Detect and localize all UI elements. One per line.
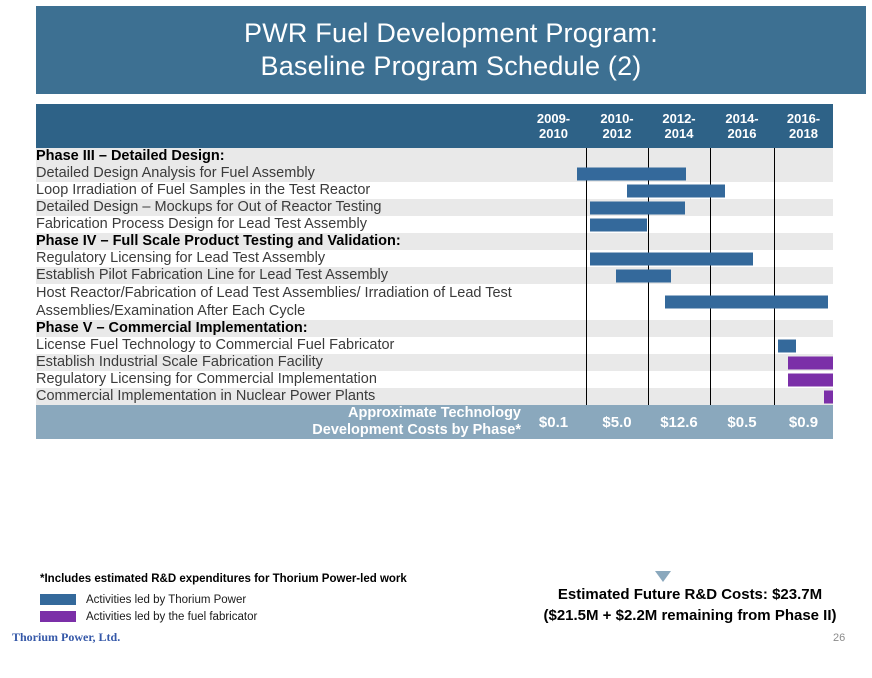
gridline	[648, 337, 649, 354]
cost-summary-label-line1: Approximate Technology	[36, 405, 521, 422]
task-label: Detailed Design Analysis for Fuel Assemb…	[36, 165, 521, 182]
legend-swatch-blue-icon	[40, 594, 76, 605]
gantt-track	[521, 337, 833, 354]
cost-value-3: $0.5	[710, 405, 774, 439]
table-row: Commercial Implementation in Nuclear Pow…	[36, 388, 833, 405]
task-label: Fabrication Process Design for Lead Test…	[36, 216, 521, 233]
table-row: Phase IV – Full Scale Product Testing an…	[36, 233, 833, 250]
gridline	[710, 320, 711, 337]
gridline	[648, 216, 649, 233]
table-row: Regulatory Licensing for Commercial Impl…	[36, 371, 833, 388]
column-header-4-line2: 2018	[774, 126, 833, 141]
task-label: Regulatory Licensing for Lead Test Assem…	[36, 250, 521, 267]
table-row: Phase III – Detailed Design:	[36, 148, 833, 165]
gantt-track	[521, 320, 833, 337]
cost-value-0: $0.1	[521, 405, 586, 439]
gantt-bar	[590, 252, 754, 265]
task-label: Loop Irradiation of Fuel Samples in the …	[36, 182, 521, 199]
gantt-bar	[788, 373, 833, 386]
gridline	[710, 354, 711, 371]
gridline	[586, 233, 587, 250]
legend-swatch-purple-icon	[40, 611, 76, 622]
gridline	[586, 371, 587, 388]
gantt-bar	[665, 296, 829, 309]
phase-heading: Phase IV – Full Scale Product Testing an…	[36, 233, 521, 250]
gantt-track	[521, 182, 833, 199]
column-header-2-line1: 2012-	[648, 111, 710, 126]
table-row: Establish Industrial Scale Fabrication F…	[36, 354, 833, 371]
task-label: Commercial Implementation in Nuclear Pow…	[36, 388, 521, 405]
task-label: Regulatory Licensing for Commercial Impl…	[36, 371, 521, 388]
cost-value-4: $0.9	[774, 405, 833, 439]
legend-label-0: Activities led by Thorium Power	[86, 594, 246, 606]
gridline	[710, 388, 711, 405]
gridline	[586, 250, 587, 267]
column-header-4: 2016- 2018	[774, 104, 833, 148]
legend-item-thorium-power: Activities led by Thorium Power	[40, 592, 340, 607]
task-label: License Fuel Technology to Commercial Fu…	[36, 337, 521, 354]
callout-pointer-icon	[655, 571, 671, 582]
task-label: Establish Industrial Scale Fabrication F…	[36, 354, 521, 371]
gridline	[774, 199, 775, 216]
table-header-row: 2009- 2010 2010- 2012 2012- 2014 2014- 2…	[36, 104, 833, 148]
slide-title-line-1: PWR Fuel Development Program:	[244, 17, 658, 50]
gantt-track	[521, 354, 833, 371]
slide-title-banner: PWR Fuel Development Program: Baseline P…	[36, 6, 866, 94]
program-schedule-table: 2009- 2010 2010- 2012 2012- 2014 2014- 2…	[36, 104, 833, 439]
cost-summary-row: Approximate Technology Development Costs…	[36, 405, 833, 439]
gantt-bar	[577, 167, 686, 180]
gridline	[710, 337, 711, 354]
task-label: Host Reactor/Fabrication of Lead Test As…	[36, 284, 521, 320]
table-row: Loop Irradiation of Fuel Samples in the …	[36, 182, 833, 199]
gridline	[774, 182, 775, 199]
gridline	[710, 267, 711, 284]
gantt-track	[521, 165, 833, 182]
column-header-1: 2010- 2012	[586, 104, 648, 148]
gantt-track	[521, 216, 833, 233]
cost-summary-label: Approximate Technology Development Costs…	[36, 405, 521, 439]
gridline	[774, 267, 775, 284]
legend-item-fuel-fabricator: Activities led by the fuel fabricator	[40, 609, 340, 624]
column-header-0: 2009- 2010	[521, 104, 586, 148]
column-header-3: 2014- 2016	[710, 104, 774, 148]
gantt-track	[521, 388, 833, 405]
cost-value-2: $12.6	[648, 405, 710, 439]
gridline	[586, 148, 587, 165]
gantt-track	[521, 284, 833, 320]
gridline	[774, 388, 775, 405]
gridline	[648, 233, 649, 250]
gridline	[710, 199, 711, 216]
table-row: Establish Pilot Fabrication Line for Lea…	[36, 267, 833, 284]
task-label: Establish Pilot Fabrication Line for Lea…	[36, 267, 521, 284]
gantt-bar	[788, 356, 833, 369]
slide-title-line-2: Baseline Program Schedule (2)	[261, 50, 642, 83]
gantt-track	[521, 371, 833, 388]
task-label: Detailed Design – Mockups for Out of Rea…	[36, 199, 521, 216]
table-header-corner	[36, 104, 521, 148]
page-number: 26	[833, 632, 845, 644]
chart-legend: Activities led by Thorium Power Activiti…	[40, 592, 340, 626]
column-header-3-line2: 2016	[710, 126, 774, 141]
callout-line-2: ($21.5M + $2.2M remaining from Phase II)	[512, 605, 868, 626]
gridline	[586, 199, 587, 216]
gantt-track	[521, 199, 833, 216]
gridline	[774, 354, 775, 371]
cost-summary-label-line2: Development Costs by Phase*	[36, 422, 521, 439]
table-row: Detailed Design – Mockups for Out of Rea…	[36, 199, 833, 216]
table-row: Fabrication Process Design for Lead Test…	[36, 216, 833, 233]
gridline	[586, 182, 587, 199]
gridline	[710, 148, 711, 165]
column-header-2: 2012- 2014	[648, 104, 710, 148]
gridline	[586, 216, 587, 233]
gridline	[710, 233, 711, 250]
gridline	[586, 320, 587, 337]
gridline	[586, 388, 587, 405]
gridline	[648, 320, 649, 337]
gridline	[774, 148, 775, 165]
gantt-track	[521, 233, 833, 250]
gantt-track	[521, 250, 833, 267]
column-header-1-line1: 2010-	[586, 111, 648, 126]
column-header-3-line1: 2014-	[710, 111, 774, 126]
phase-heading: Phase III – Detailed Design:	[36, 148, 521, 165]
gantt-bar	[778, 339, 795, 352]
gridline	[774, 250, 775, 267]
estimated-costs-callout: Estimated Future R&D Costs: $23.7M ($21.…	[512, 584, 868, 626]
gridline	[710, 165, 711, 182]
gridline	[648, 148, 649, 165]
gantt-track	[521, 148, 833, 165]
gridline	[710, 371, 711, 388]
gridline	[586, 337, 587, 354]
column-header-0-line1: 2009-	[521, 111, 586, 126]
gridline	[586, 284, 587, 320]
table-body: Phase III – Detailed Design:Detailed Des…	[36, 148, 833, 405]
gantt-bar	[590, 201, 685, 214]
legend-label-1: Activities led by the fuel fabricator	[86, 611, 257, 623]
gridline	[774, 165, 775, 182]
gridline	[648, 354, 649, 371]
gridline	[586, 267, 587, 284]
callout-line-1: Estimated Future R&D Costs: $23.7M	[512, 584, 868, 605]
phase-heading: Phase V – Commercial Implementation:	[36, 320, 521, 337]
column-header-0-line2: 2010	[521, 126, 586, 141]
footnote-text: *Includes estimated R&D expenditures for…	[40, 573, 407, 585]
table-row: Phase V – Commercial Implementation:	[36, 320, 833, 337]
gridline	[774, 233, 775, 250]
gantt-bar	[616, 269, 671, 282]
table-row: Detailed Design Analysis for Fuel Assemb…	[36, 165, 833, 182]
gridline	[648, 388, 649, 405]
gantt-bar	[627, 184, 725, 197]
gridline	[774, 337, 775, 354]
gridline	[774, 320, 775, 337]
gridline	[648, 371, 649, 388]
cost-value-1: $5.0	[586, 405, 648, 439]
gantt-bar	[590, 218, 648, 231]
column-header-2-line2: 2014	[648, 126, 710, 141]
table-row: Regulatory Licensing for Lead Test Assem…	[36, 250, 833, 267]
column-header-1-line2: 2012	[586, 126, 648, 141]
column-header-4-line1: 2016-	[774, 111, 833, 126]
gridline	[586, 354, 587, 371]
table-row: License Fuel Technology to Commercial Fu…	[36, 337, 833, 354]
gantt-bar	[824, 390, 833, 403]
gridline	[774, 371, 775, 388]
table-row: Host Reactor/Fabrication of Lead Test As…	[36, 284, 833, 320]
gantt-track	[521, 267, 833, 284]
gridline	[774, 216, 775, 233]
gridline	[710, 216, 711, 233]
company-brand-label: Thorium Power, Ltd.	[12, 630, 120, 645]
gridline	[648, 284, 649, 320]
